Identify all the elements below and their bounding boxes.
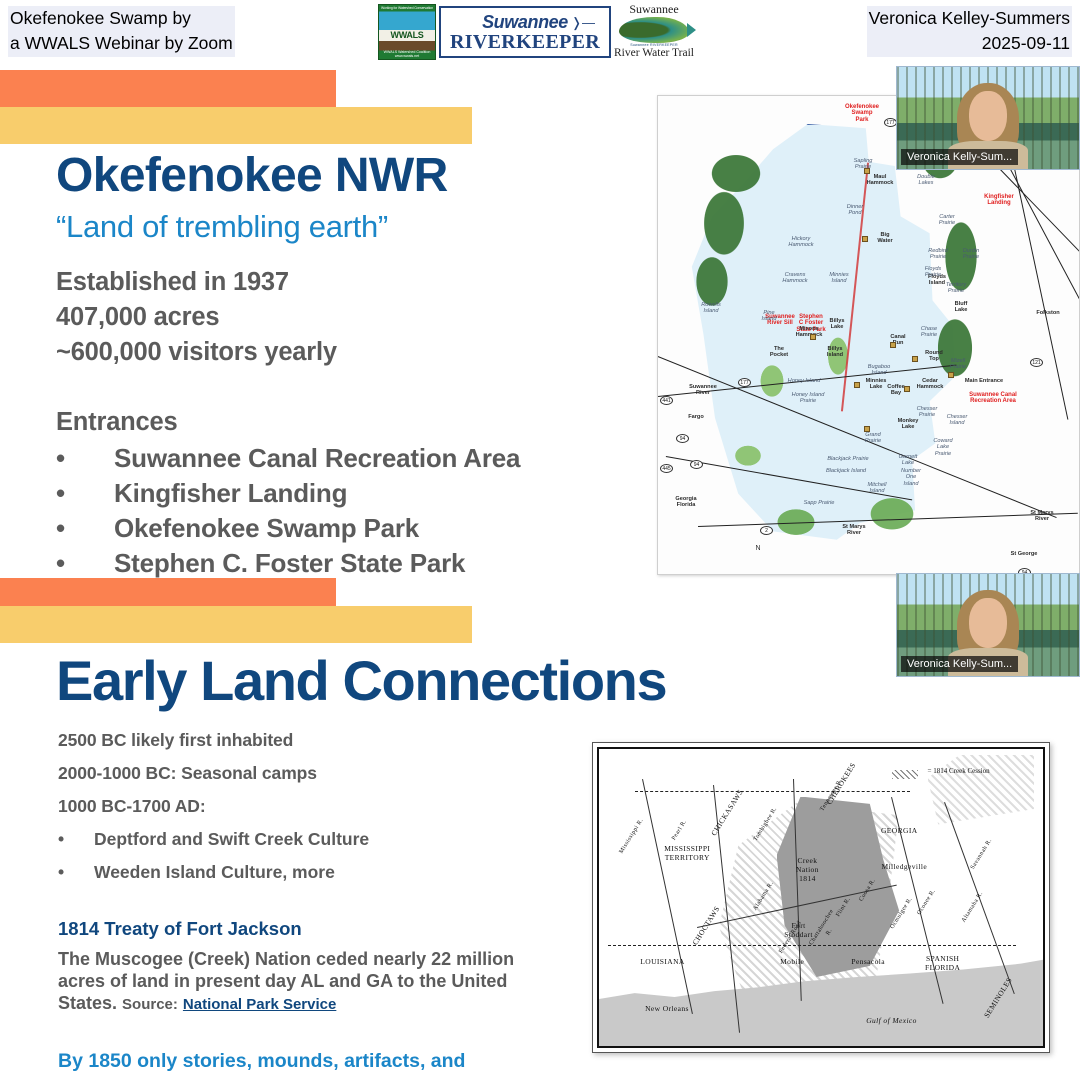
- hist-label-creek-nation: CreekNation1814: [785, 856, 829, 883]
- map-label-coward-lake-prairie: CowardLakePrairie: [926, 438, 960, 457]
- hist-label-new-orleans: New Orleans: [639, 1004, 695, 1013]
- map-label-bluff-lake: BluffLake: [946, 301, 976, 314]
- bullet-glyph: •: [58, 829, 94, 850]
- hist-river-savannah: Savannah R.: [968, 836, 996, 873]
- slide1-entrance-3-label: Stephen C. Foster State Park: [114, 548, 465, 578]
- slide1-entrance-0-label: Suwannee Canal Recreation Area: [114, 443, 520, 473]
- map-label-okefenokee-swamp-park: OkefenokeeSwampPark: [836, 104, 888, 123]
- map-label-canal-run: CanalRun: [882, 334, 914, 347]
- road-line: [987, 156, 1080, 322]
- face-shape: [969, 91, 1007, 141]
- map-label-cravens-hammock: CravensHammock: [774, 272, 816, 285]
- slide1-fact-0: Established in 1937: [56, 268, 289, 297]
- slide1-title: Okefenokee NWR: [56, 148, 448, 203]
- map-label-hickory-hammock: HickoryHammock: [780, 236, 822, 249]
- slide2-line-2: 1000 BC-1700 AD:: [58, 796, 206, 817]
- map-label-sapling-prairie: SaplingPrairie: [844, 158, 882, 171]
- hist-label-choctaws: CHOCTAWS: [688, 900, 724, 951]
- hist-label-mobile: Mobile: [772, 957, 812, 966]
- trail-line2: River Water Trail: [614, 47, 694, 60]
- slide1-entrance-2-label: Okefenokee Swamp Park: [114, 513, 419, 543]
- map-label-honey-island: Honey Island: [786, 378, 822, 384]
- map-label-durdin-prairie: DurdinPrairie: [954, 248, 988, 261]
- route-shield-94-lower: 94: [690, 460, 703, 469]
- route-shield-94-west: 94: [676, 434, 689, 443]
- road-line: [1005, 126, 1068, 420]
- hist-river-pearl: Pearl R.: [668, 816, 690, 845]
- map-marker: [862, 236, 868, 242]
- decor-bar-yellow-top: [0, 107, 472, 144]
- hist-river-mississippi: Mississippi R.: [618, 817, 647, 856]
- slide1-subtitle: “Land of trembling earth”: [56, 209, 388, 245]
- bullet-glyph: •: [56, 548, 114, 579]
- face-shape: [969, 598, 1007, 648]
- bullet-glyph: •: [58, 862, 94, 883]
- map-label-the-pocket: ThePocket: [764, 346, 794, 359]
- map-label-georgia-florida: GeorgiaFlorida: [666, 496, 706, 509]
- hist-label-georgia: GEORGIA: [874, 826, 924, 835]
- legend-label: = 1814 Creek Cession: [928, 767, 990, 775]
- slide1-fact-2: ~600,000 visitors yearly: [56, 338, 337, 367]
- route-shield-2: 2: [760, 526, 773, 535]
- slide1-fact-1: 407,000 acres: [56, 303, 219, 332]
- map-label-territory-prairie: TerritoryPrairie: [938, 282, 974, 295]
- slide2-bullet-0: •Deptford and Swift Creek Culture: [58, 829, 369, 850]
- map-label-fargo: Fargo: [678, 414, 714, 420]
- national-park-service-link[interactable]: National Park Service: [183, 996, 336, 1013]
- map-label-billys-lake: BillysLake: [822, 318, 852, 331]
- compass-rose: N: [746, 546, 770, 552]
- legend-hatch-swatch: [892, 770, 918, 779]
- slide1-entrance-2: •Okefenokee Swamp Park: [56, 513, 756, 544]
- riverkeeper-line1: Suwannee: [482, 13, 568, 32]
- bullet-glyph: •: [56, 443, 114, 474]
- map-label-monkey-lake: MonkeyLake: [890, 418, 926, 431]
- map-label-mizell-prairie: MizellPrairie: [942, 358, 974, 371]
- fish-icon: ❭—: [571, 15, 595, 31]
- map-label-honey-island-prairie: Honey IslandPrairie: [788, 392, 828, 405]
- map-label-garnett-lake: GarnettLake: [892, 454, 924, 467]
- route-shield-177-west: 177: [738, 378, 751, 387]
- map-label-minnies-island: MinniesIsland: [822, 272, 856, 285]
- map-marker: [904, 386, 910, 392]
- hist-label-louisiana: LOUISIANA: [635, 957, 691, 966]
- slide2-treaty-body: The Muscogee (Creek) Nation ceded nearly…: [58, 948, 558, 1016]
- hist-label-milledgeville: Milledgeville: [874, 862, 934, 871]
- slide2-title: Early Land Connections: [56, 648, 666, 713]
- wwals-logo: Working for Watershed Conservation WWALS…: [378, 4, 436, 60]
- map-label-suwannee-canal-rec-area: Suwannee CanalRecreation Area: [958, 392, 1028, 405]
- header-left-line2: a WWALS Webinar by Zoom: [10, 31, 233, 56]
- video-thumbnail-bottom[interactable]: Veronica Kelly-Sum...: [896, 573, 1080, 677]
- video-thumbnail-top[interactable]: Veronica Kelly-Sum...: [896, 66, 1080, 170]
- map-marker: [948, 372, 954, 378]
- slide1-entrance-1: •Kingfisher Landing: [56, 478, 756, 509]
- wwals-logo-name: WWALS: [379, 30, 435, 41]
- map-label-double-lakes: DoubleLakes: [908, 174, 944, 187]
- header-right-caption: Veronica Kelley-Summers 2025-09-11: [867, 6, 1072, 57]
- map-label-chesser-prairie: ChesserPrairie: [910, 406, 944, 419]
- wwals-logo-footer: WWALS Watershed Coalition www.wwals.net: [379, 50, 435, 58]
- creek-cession-historical-map: = 1814 Creek Cession CHICKASAWS CHEROKEE…: [592, 742, 1050, 1053]
- decor-bar-orange-top: [0, 70, 336, 107]
- hist-label-chickasaws: CHICKASAWS: [707, 785, 746, 841]
- map-label-folkston: Folkston: [1026, 310, 1070, 316]
- map-label-blackjack-prairie: Blackjack Prairie: [826, 456, 870, 462]
- map-label-dinner-pond: DinnerPond: [838, 204, 872, 217]
- map-label-st-marys-river-east: St MarysRiver: [1024, 510, 1060, 523]
- map-marker: [864, 426, 870, 432]
- map-label-big-water: BigWater: [870, 232, 900, 245]
- map-label-suwannee-river: SuwanneeRiver: [680, 384, 726, 397]
- logo-row: Working for Watershed Conservation WWALS…: [378, 2, 696, 62]
- bullet-glyph: •: [56, 513, 114, 544]
- map-label-mitchell-island: MitchellIsland: [860, 482, 894, 495]
- map-label-billys-island: BillysIsland: [818, 346, 852, 359]
- map-label-chase-prairie: ChasePrairie: [912, 326, 946, 339]
- route-shield-441: 441: [660, 396, 673, 405]
- map-label-number-one-island: NumberOneIsland: [894, 468, 928, 487]
- slide2-closing-text: By 1850 only stories, mounds, artifacts,…: [58, 1048, 678, 1075]
- map-label-grand-prairie: GrandPrairie: [856, 432, 890, 445]
- route-shield-121: 121: [1030, 358, 1043, 367]
- map-label-redbird-prairie: RedbirdPrairie: [920, 248, 956, 261]
- suwannee-river-water-trail-logo: Suwannee Suwannee RIVERKEEPER River Wate…: [614, 3, 694, 61]
- suwannee-riverkeeper-logo: Suwannee RIVERKEEPER ❭—: [439, 6, 611, 58]
- bass-fish-icon: [619, 17, 689, 43]
- hist-label-pensacola: Pensacola: [843, 957, 893, 966]
- source-label: Source:: [122, 996, 178, 1013]
- territory-boundary-dash-north: [635, 791, 910, 792]
- map-label-main-entrance: Main Entrance: [958, 378, 1010, 384]
- header-left-line1: Okefenokee Swamp by: [10, 6, 233, 31]
- map-label-pine-island: PineIsland: [754, 310, 784, 323]
- route-shield-445: 445: [660, 464, 673, 473]
- slide1-entrance-0: •Suwannee Canal Recreation Area: [56, 443, 756, 474]
- map-marker: [912, 356, 918, 362]
- slide-deck-page: Okefenokee Swamp by a WWALS Webinar by Z…: [0, 0, 1080, 1081]
- presentation-date: 2025-09-11: [869, 31, 1070, 56]
- map-label-cedar-hammock: CedarHammock: [908, 378, 952, 391]
- map-label-chesser-island: ChesserIsland: [940, 414, 974, 427]
- riverkeeper-line2: RIVERKEEPER: [450, 32, 600, 52]
- video-caption-bottom: Veronica Kelly-Sum...: [901, 656, 1018, 672]
- header-left-caption: Okefenokee Swamp by a WWALS Webinar by Z…: [8, 6, 235, 57]
- trail-line1: Suwannee: [614, 3, 694, 16]
- map-label-bugaboo-island: BugabooIsland: [862, 364, 896, 377]
- map-marker: [810, 334, 816, 340]
- map-label-maul-hammock: MaulHammock: [858, 174, 902, 187]
- map-label-blackjack-island: Blackjack Island: [824, 468, 868, 474]
- slide2-bullet-1: •Weeden Island Culture, more: [58, 862, 335, 883]
- slide2-line-1: 2000-1000 BC: Seasonal camps: [58, 763, 317, 784]
- slide2-bullet-1-label: Weeden Island Culture, more: [94, 862, 335, 882]
- map-label-floyds-prairie: FloydsPrairie: [916, 266, 950, 279]
- map-label-rowells-island: RowellsIsland: [694, 302, 728, 315]
- wwals-logo-tagline: Working for Watershed Conservation: [379, 6, 435, 10]
- presenter-name: Veronica Kelley-Summers: [869, 6, 1070, 31]
- slide2-bullet-0-label: Deptford and Swift Creek Culture: [94, 829, 369, 849]
- map-marker: [890, 342, 896, 348]
- bullet-glyph: •: [56, 478, 114, 509]
- hist-label-spanish-florida: SPANISHFLORIDA: [919, 954, 967, 972]
- video-caption-top: Veronica Kelly-Sum...: [901, 149, 1018, 165]
- historical-map-frame: = 1814 Creek Cession CHICKASAWS CHEROKEE…: [597, 747, 1045, 1048]
- hist-label-gulf-of-mexico: Gulf of Mexico: [857, 1016, 927, 1025]
- map-marker: [864, 168, 870, 174]
- slide2-line-0: 2500 BC likely first inhabited: [58, 730, 293, 751]
- decor-bar-yellow-bottom: [0, 606, 472, 643]
- map-label-kingfisher-landing: KingfisherLanding: [974, 194, 1024, 207]
- river-line: [643, 779, 694, 1014]
- map-marker: [854, 382, 860, 388]
- slide1-entrances-heading: Entrances: [56, 408, 178, 437]
- map-label-carter-prairie: CarterPrairie: [930, 214, 964, 227]
- slide1-entrance-3: •Stephen C. Foster State Park: [56, 548, 756, 579]
- map-label-sapp-prairie: Sapp Prairie: [802, 500, 836, 506]
- hist-label-mississippi-territory: MISSISSIPPITERRITORY: [652, 844, 722, 862]
- map-label-st-marys-river-south: St MarysRiver: [836, 524, 872, 537]
- slide2-treaty-heading: 1814 Treaty of Fort Jackson: [58, 918, 302, 940]
- map-label-st-george: St George: [1002, 551, 1046, 557]
- slide1-entrance-1-label: Kingfisher Landing: [114, 478, 347, 508]
